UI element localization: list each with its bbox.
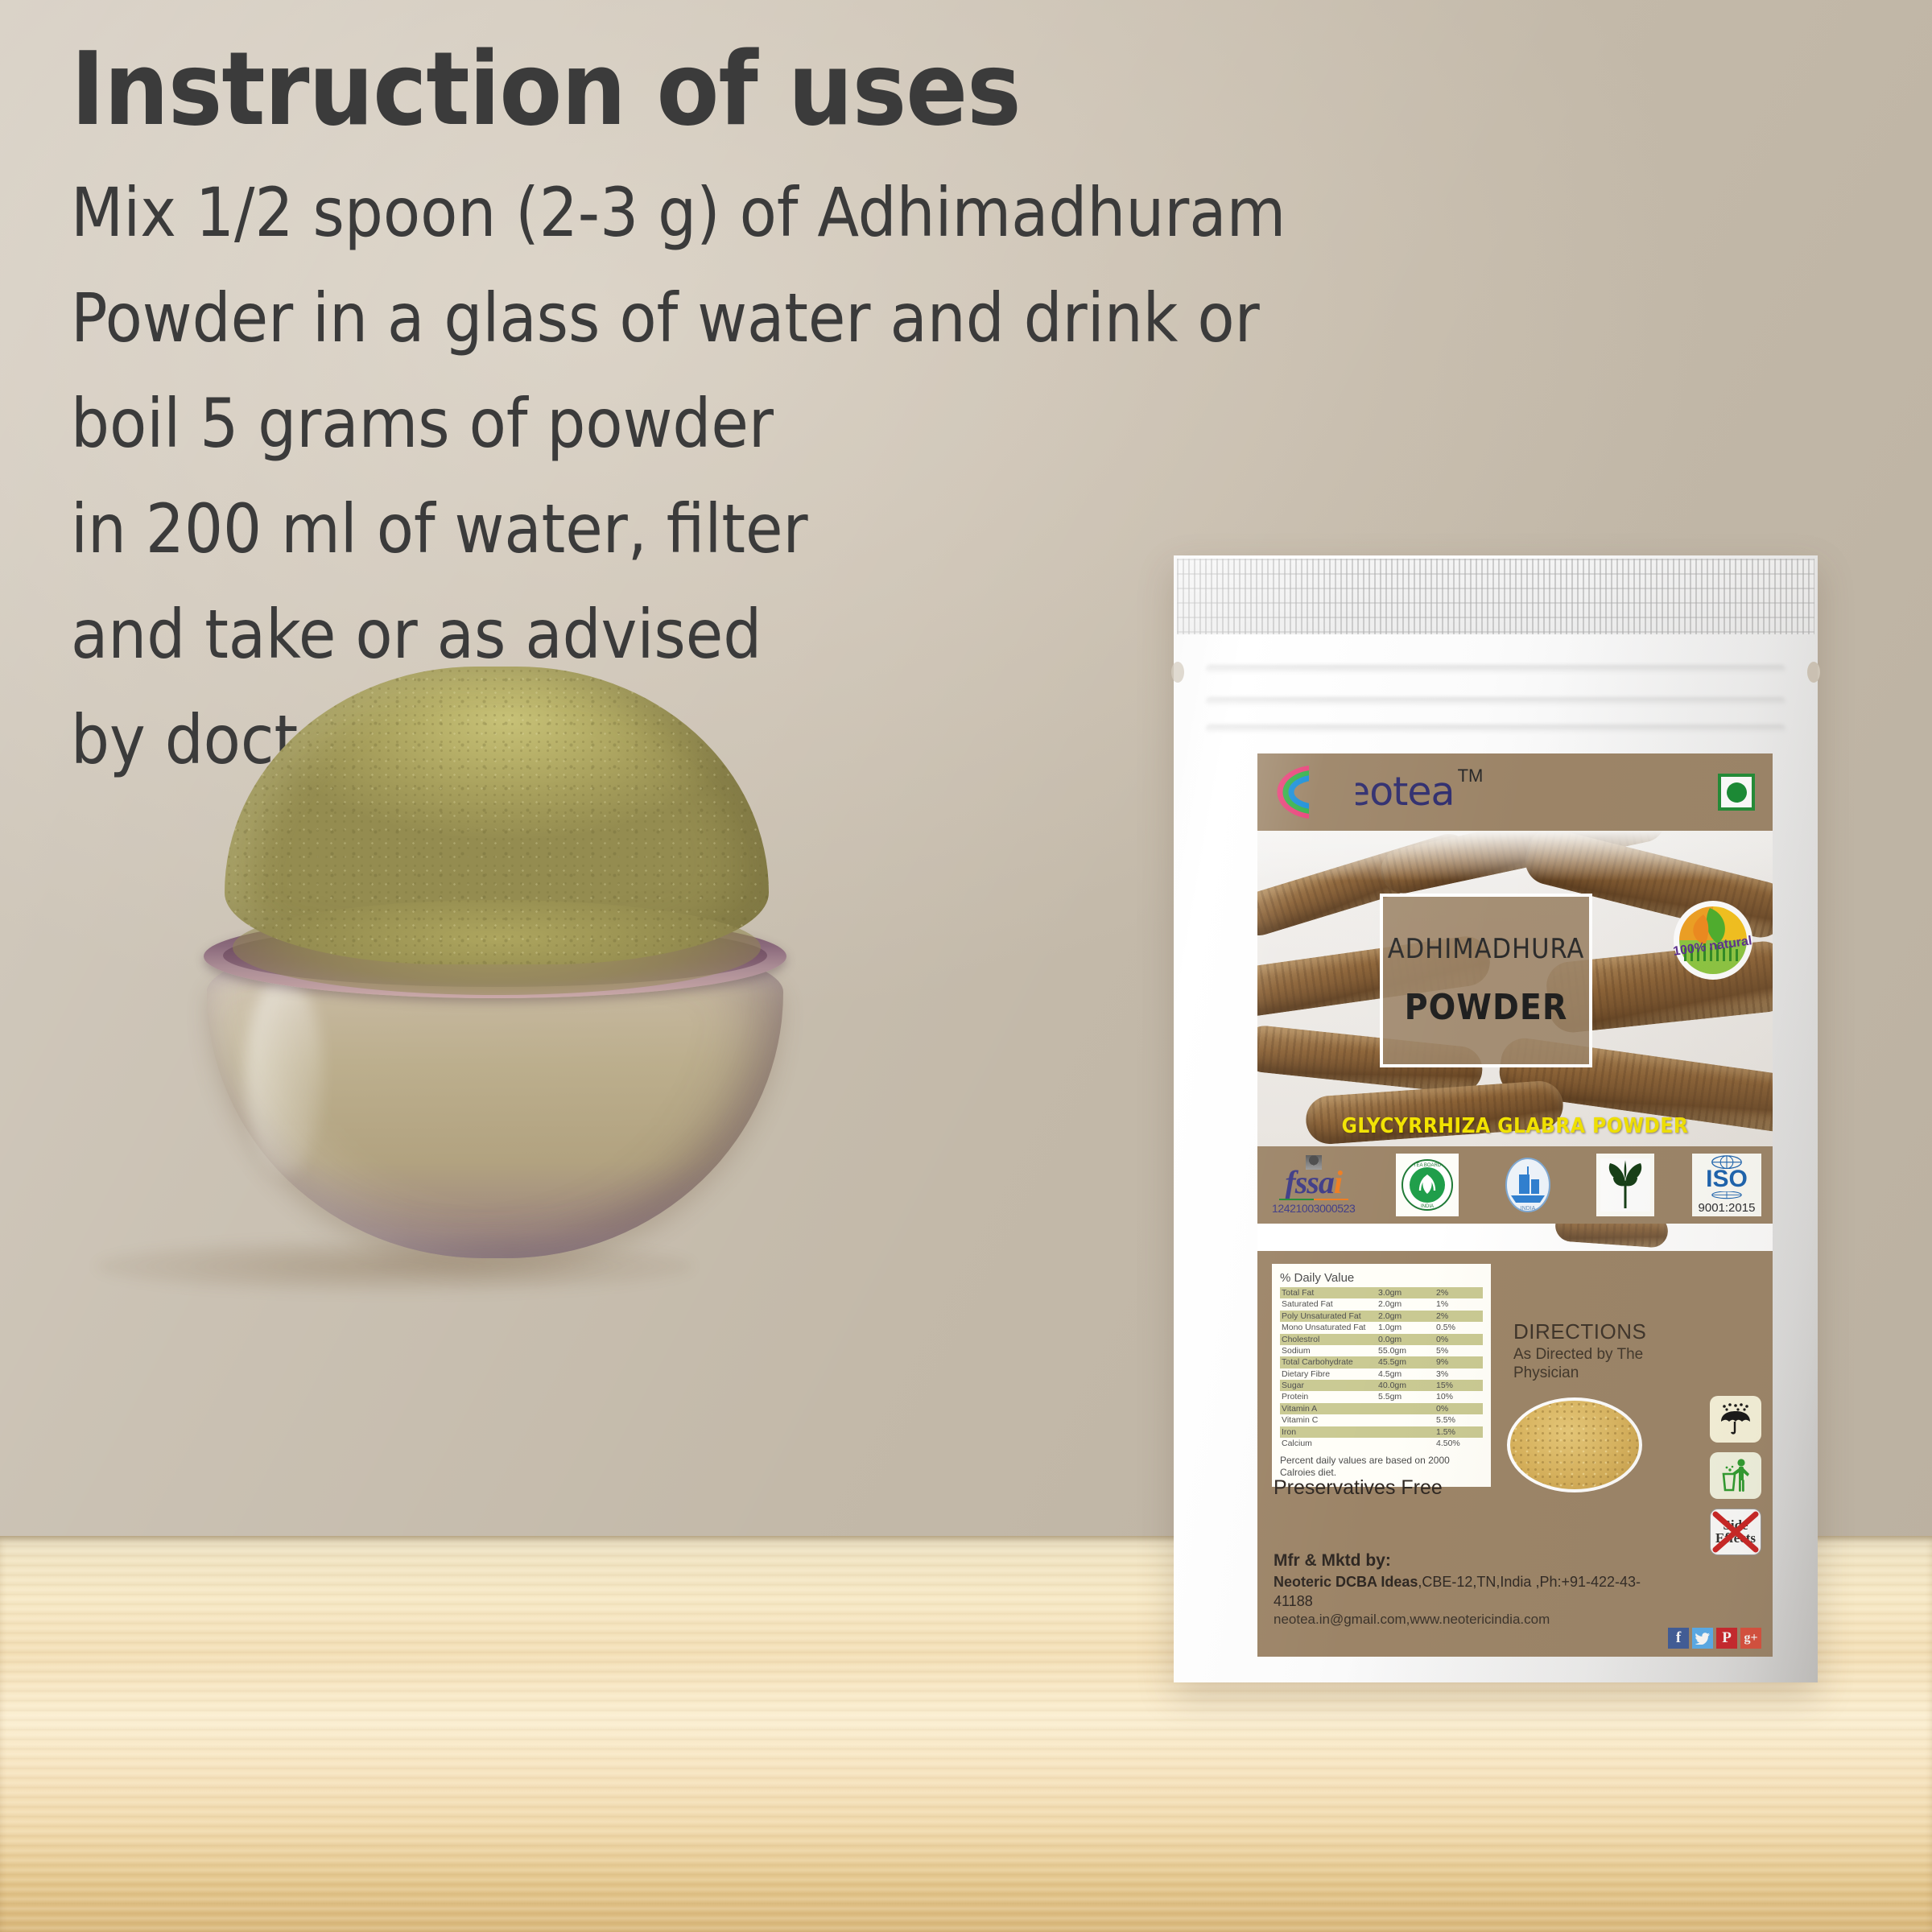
nutrient-amount: 3.0gm [1377, 1287, 1435, 1298]
nutrition-row: Mono Unsaturated Fat1.0gm0.5% [1280, 1322, 1483, 1333]
nutrient-daily-value: 1.5% [1435, 1426, 1483, 1438]
product-name-sub: POWDER [1405, 990, 1568, 1026]
nutrition-row: Saturated Fat2.0gm1% [1280, 1298, 1483, 1310]
fssai-license-number: 12421003000523 [1272, 1202, 1355, 1215]
directions-title: DIRECTIONS [1513, 1320, 1674, 1344]
tear-notch-left [1171, 662, 1184, 683]
spices-board-india-badge-icon: INDIA [1496, 1154, 1559, 1216]
nutrient-name: Protein [1280, 1391, 1377, 1402]
twitter-icon[interactable] [1692, 1628, 1713, 1649]
botanical-name: GLYCYRRHIZA GLABRA POWDER [1257, 1114, 1773, 1138]
neotea-rings-icon [1277, 764, 1356, 820]
pinterest-icon[interactable]: P [1716, 1628, 1737, 1649]
social-icons-row: f P g+ [1668, 1628, 1761, 1649]
fssai-wordmark: fssai [1285, 1168, 1342, 1198]
hero-white-fade [1257, 831, 1773, 881]
nutrition-row: Protein5.5gm10% [1280, 1391, 1483, 1402]
trademark-symbol: TM [1458, 766, 1484, 786]
nutrition-row: Vitamin A0% [1280, 1403, 1483, 1414]
google-plus-icon[interactable]: g+ [1740, 1628, 1761, 1649]
pouch-fold [1206, 697, 1785, 706]
ayush-leaf-badge-icon [1596, 1154, 1654, 1216]
label-white-strip [1257, 1224, 1773, 1251]
nutrient-name: Dietary Fibre [1280, 1368, 1377, 1380]
nutrient-name: Iron [1280, 1426, 1377, 1438]
svg-text:TEA BOARD: TEA BOARD [1414, 1163, 1442, 1168]
nutrient-daily-value: 4.50% [1435, 1438, 1483, 1449]
nutrient-daily-value: 5.5% [1435, 1414, 1483, 1426]
nutrient-amount [1377, 1426, 1435, 1438]
product-label: neotea TM ADHIMADHURA POWDER [1257, 753, 1773, 1657]
nutrition-row: Calcium4.50% [1280, 1438, 1483, 1449]
nutrition-row: Sugar40.0gm15% [1280, 1380, 1483, 1391]
label-header: neotea TM [1257, 753, 1773, 831]
nutrient-name: Total Fat [1280, 1287, 1377, 1298]
fssai-word-text: fssa [1285, 1164, 1333, 1200]
nutrition-row: Poly Unsaturated Fat2.0gm2% [1280, 1311, 1483, 1322]
svg-text:INDIA: INDIA [1421, 1204, 1434, 1209]
nutrition-row: Dietary Fibre4.5gm3% [1280, 1368, 1483, 1380]
iso-label: ISO [1706, 1167, 1748, 1191]
nutrient-name: Cholestrol [1280, 1334, 1377, 1345]
keep-dry-icon [1710, 1396, 1761, 1443]
instruction-line: boil 5 grams of powder [71, 371, 1125, 477]
nutrition-row: Vitamin C5.5% [1280, 1414, 1483, 1426]
vegetarian-mark-icon [1718, 774, 1755, 811]
nutrient-daily-value: 2% [1435, 1311, 1483, 1322]
nutrition-row: Sodium55.0gm5% [1280, 1345, 1483, 1356]
fssai-word-accent: i [1334, 1164, 1342, 1200]
facebook-icon[interactable]: f [1668, 1628, 1689, 1649]
nutrient-amount: 0.0gm [1377, 1334, 1435, 1345]
nutrient-amount: 4.5gm [1377, 1368, 1435, 1380]
certification-row: fssai 12421003000523 TEA BOARD INDIA [1257, 1146, 1773, 1224]
manufacturer-contact: neotea.in@gmail.com,www.neotericindia.co… [1274, 1611, 1652, 1629]
svg-text:INDIA: INDIA [1520, 1206, 1535, 1212]
nutrient-daily-value: 3% [1435, 1368, 1483, 1380]
instruction-line: Powder in a glass of water and drink or [71, 266, 1125, 371]
brand-logo: neotea TM [1277, 764, 1483, 820]
nutrition-row: Iron1.5% [1280, 1426, 1483, 1438]
glass-highlight [246, 974, 323, 1175]
instruction-line: in 200 ml of water, filter [71, 477, 1125, 582]
fssai-underline [1279, 1199, 1348, 1200]
directions-block: DIRECTIONS As Directed by The Physician [1513, 1320, 1674, 1383]
nutrient-daily-value: 0% [1435, 1334, 1483, 1345]
nutrient-name: Mono Unsaturated Fat [1280, 1322, 1377, 1333]
nutrient-daily-value: 15% [1435, 1380, 1483, 1391]
manufacturer-block: Mfr & Mktd by: Neoteric DCBA Ideas,CBE-1… [1274, 1550, 1652, 1629]
pouch-fold [1206, 665, 1785, 674]
nutrient-daily-value: 10% [1435, 1391, 1483, 1402]
nutrient-amount: 1.0gm [1377, 1322, 1435, 1333]
iso-standard-number: 9001:2015 [1699, 1202, 1756, 1216]
fssai-badge-icon: fssai 12421003000523 [1269, 1154, 1358, 1216]
iso-badge-icon: ISO 9001:2015 [1692, 1154, 1761, 1216]
nutrient-daily-value: 2% [1435, 1287, 1483, 1298]
nutrient-name: Vitamin A [1280, 1403, 1377, 1414]
instruction-line: Mix 1/2 spoon (2-3 g) of Adhimadhuram [71, 160, 1125, 266]
directions-text: As Directed by The Physician [1513, 1345, 1674, 1383]
pouch-fold [1206, 724, 1785, 733]
licorice-root [1554, 1224, 1669, 1249]
tear-notch-right [1807, 662, 1820, 683]
natural-badge-icon: 100% natural [1671, 898, 1755, 982]
nutrient-name: Saturated Fat [1280, 1298, 1377, 1310]
nutrient-daily-value: 9% [1435, 1356, 1483, 1368]
nutrient-name: Total Carbohydrate [1280, 1356, 1377, 1368]
nutrient-amount: 40.0gm [1377, 1380, 1435, 1391]
nutrient-amount [1377, 1403, 1435, 1414]
label-hero-image: ADHIMADHURA POWDER [1257, 831, 1773, 1146]
nutrient-name: Vitamin C [1280, 1414, 1377, 1426]
nutrition-footnote: Percent daily values are based on 2000 C… [1280, 1455, 1483, 1478]
nutrient-amount: 55.0gm [1377, 1345, 1435, 1356]
preservatives-free-label: Preservatives Free [1274, 1476, 1443, 1500]
dispose-properly-icon [1710, 1452, 1761, 1499]
nutrient-name: Sodium [1280, 1345, 1377, 1356]
tea-board-india-badge-icon: TEA BOARD INDIA [1396, 1154, 1459, 1216]
nutrition-table: Total Fat3.0gm2%Saturated Fat2.0gm1%Poly… [1280, 1287, 1483, 1449]
manufacturer-company: Neoteric DCBA Ideas [1274, 1574, 1418, 1590]
powder-texture-overlay [225, 667, 769, 964]
nutrient-daily-value: 5% [1435, 1345, 1483, 1356]
nutrient-amount: 45.5gm [1377, 1356, 1435, 1368]
nutrient-daily-value: 0% [1435, 1403, 1483, 1414]
veg-green-dot [1727, 782, 1747, 803]
nutrition-row: Cholestrol0.0gm0% [1280, 1334, 1483, 1345]
zip-seal [1177, 559, 1814, 634]
label-lower-panel: % Daily Value Total Fat3.0gm2%Saturated … [1257, 1251, 1773, 1657]
powder-bowl [196, 658, 795, 1258]
nutrient-amount [1377, 1414, 1435, 1426]
powder-photo-swatch [1507, 1397, 1642, 1492]
page-title: Instruction of uses [71, 34, 1125, 146]
nutrient-name: Sugar [1280, 1380, 1377, 1391]
product-name-main: ADHIMADHURA [1388, 935, 1585, 963]
manufacturer-address: Neoteric DCBA Ideas,CBE-12,TN,India ,Ph:… [1274, 1573, 1652, 1611]
nutrient-amount [1377, 1438, 1435, 1449]
nutrition-title: % Daily Value [1280, 1271, 1483, 1285]
product-name-box: ADHIMADHURA POWDER [1380, 894, 1592, 1067]
nutrition-facts-card: % Daily Value Total Fat3.0gm2%Saturated … [1272, 1264, 1491, 1487]
nutrient-amount: 5.5gm [1377, 1391, 1435, 1402]
nutrient-name: Poly Unsaturated Fat [1280, 1311, 1377, 1322]
nutrient-amount: 2.0gm [1377, 1311, 1435, 1322]
product-pouch: neotea TM ADHIMADHURA POWDER [1174, 555, 1818, 1682]
no-side-effects-icon: Side Effects [1710, 1509, 1761, 1555]
nutrient-amount: 2.0gm [1377, 1298, 1435, 1310]
manufacturer-heading: Mfr & Mktd by: [1274, 1550, 1652, 1571]
nutrition-row: Total Carbohydrate45.5gm9% [1280, 1356, 1483, 1368]
nutrition-row: Total Fat3.0gm2% [1280, 1287, 1483, 1298]
nutrient-daily-value: 1% [1435, 1298, 1483, 1310]
nutrient-daily-value: 0.5% [1435, 1322, 1483, 1333]
nutrient-name: Calcium [1280, 1438, 1377, 1449]
